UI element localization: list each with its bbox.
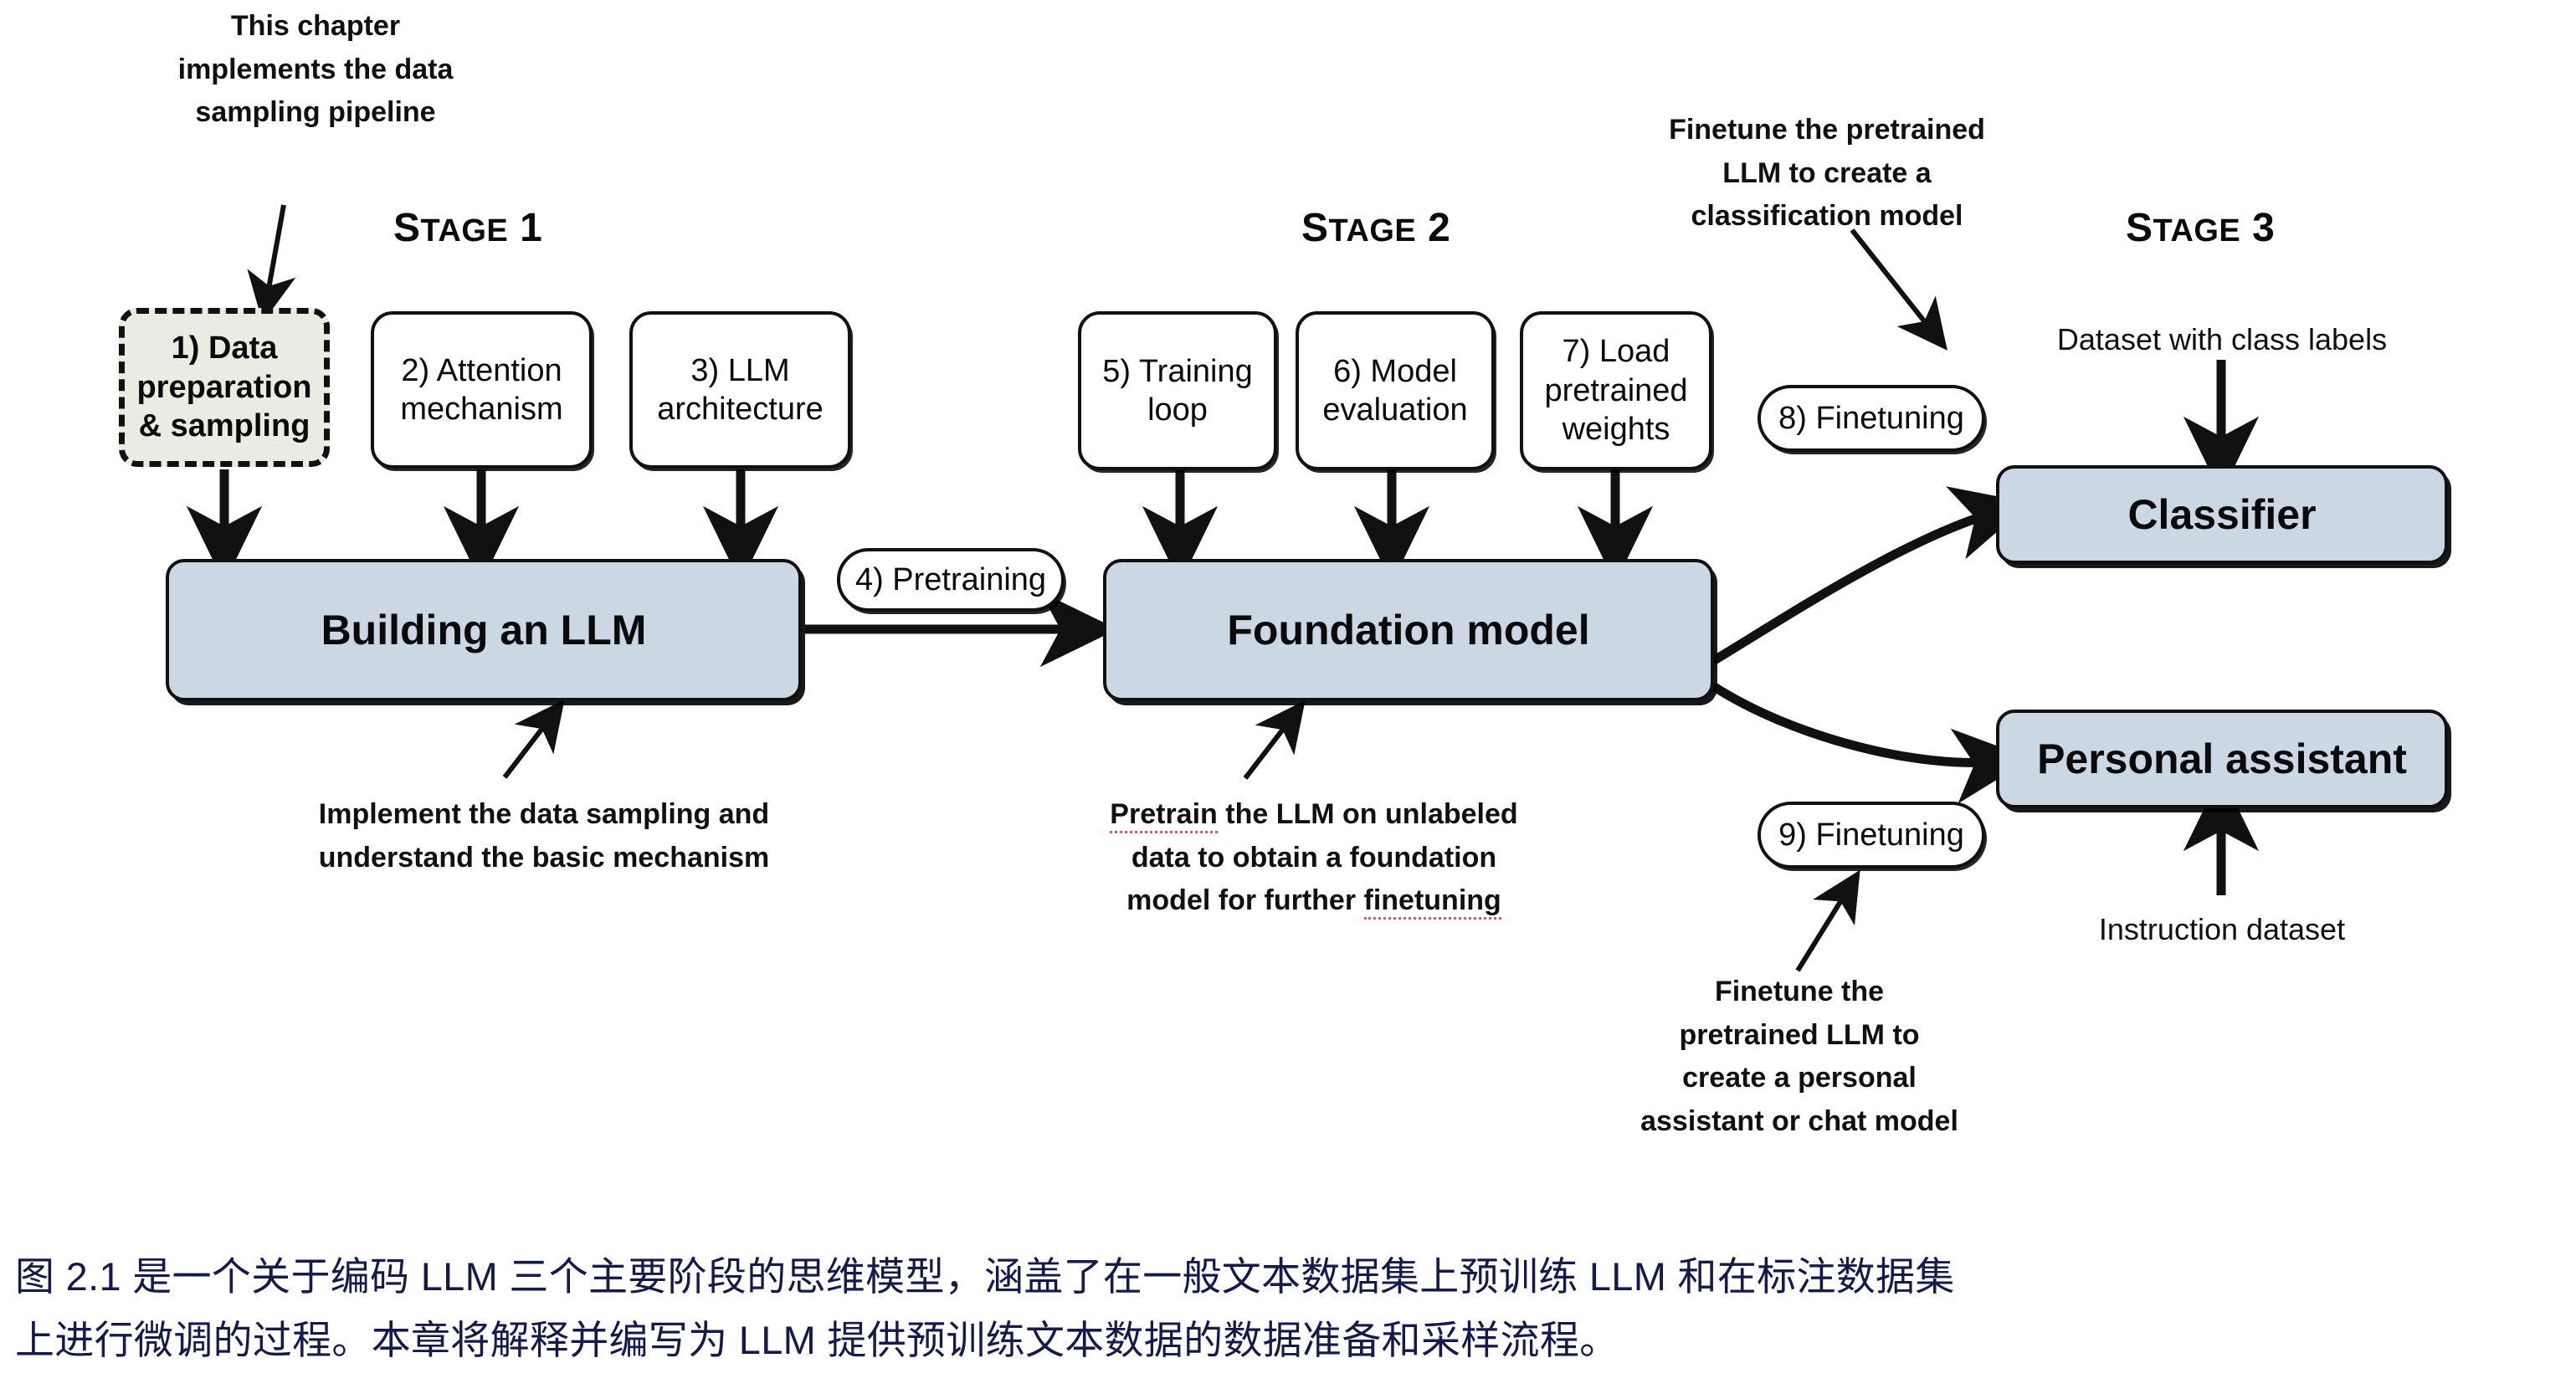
stage-3-rest: TAGE [2153, 213, 2241, 249]
figure-caption-line-2: 上进行微调的过程。本章将解释并编写为 LLM 提供预训练文本数据的数据准备和采样… [15, 1309, 2568, 1372]
node-foundation-model-label: Foundation model [1227, 605, 1589, 656]
node-building-an-llm[interactable]: Building an LLM [166, 559, 802, 701]
annotation-pretrain-line-3-head: model for further [1126, 884, 1363, 916]
annotation-pretrain-line-1-rest: the LLM on unlabeled [1218, 798, 1518, 830]
node-data-preparation-label: 1) Data preparation & sampling [130, 329, 319, 445]
annotation-finetune-classifier-line-3: classification model [1639, 195, 2015, 238]
annotation-pretrain-line-2: data to obtain a foundation [1088, 837, 1540, 880]
arrow-finetune-assistant-note [1798, 887, 1850, 971]
annotation-implement-line-1: Implement the data sampling and [276, 793, 812, 837]
annotation-finetune-assistant: Finetune the pretrained LLM to create a … [1590, 971, 2009, 1144]
node-load-pretrained-weights[interactable]: 7) Load pretrained weights [1520, 311, 1712, 470]
stage-1-lead: S [393, 206, 421, 250]
figure-canvas: STAGE 1 STAGE 2 STAGE 3 This chapter imp… [0, 0, 2576, 1399]
stage-1-label: STAGE 1 [393, 205, 542, 251]
annotation-finetune-assistant-line-4: assistant or chat model [1590, 1100, 2009, 1144]
node-load-pretrained-weights-label: 7) Load pretrained weights [1530, 332, 1702, 448]
figure-caption-line-1: 图 2.1 是一个关于编码 LLM 三个主要阶段的思维模型，涵盖了在一般文本数据… [15, 1245, 2568, 1309]
stage-2-label: STAGE 2 [1301, 205, 1450, 251]
node-personal-assistant[interactable]: Personal assistant [1996, 710, 2448, 808]
node-model-evaluation[interactable]: 6) Model evaluation [1296, 311, 1495, 470]
node-finetuning-9[interactable]: 9) Finetuning [1758, 802, 1985, 869]
stage-3-label: STAGE 3 [2126, 205, 2275, 251]
arrow-pretrain-note [1245, 716, 1293, 778]
annotation-finetune-assistant-line-3: create a personal [1590, 1057, 2009, 1100]
label-dataset-with-class-labels: Dataset with class labels [2025, 322, 2419, 357]
figure-caption: 图 2.1 是一个关于编码 LLM 三个主要阶段的思维模型，涵盖了在一般文本数据… [15, 1245, 2568, 1372]
stage-1-number [508, 206, 520, 250]
node-finetuning-9-label: 9) Finetuning [1778, 816, 1964, 854]
annotation-finetune-assistant-line-2: pretrained LLM to [1590, 1014, 2009, 1058]
node-attention-mechanism-label: 2) Attention mechanism [381, 351, 582, 429]
stage-3-number: 3 [2252, 206, 2275, 250]
node-llm-architecture-label: 3) LLM architecture [639, 351, 841, 429]
annotation-implement-line-2: understand the basic mechanism [276, 837, 812, 880]
stage-2-lead: S [1301, 206, 1329, 250]
node-finetuning-8[interactable]: 8) Finetuning [1758, 385, 1985, 452]
spellcheck-pretrain: Pretrain [1110, 798, 1218, 833]
node-personal-assistant-label: Personal assistant [2037, 734, 2407, 785]
arrow-finetune-classifier-note [1852, 230, 1935, 335]
annotation-finetune-classifier-line-1: Finetune the pretrained [1639, 109, 2015, 152]
annotation-pretrain-llm: Pretrain the LLM on unlabeled data to ob… [1088, 793, 1540, 923]
node-model-evaluation-label: 6) Model evaluation [1306, 352, 1485, 430]
stage-3-lead: S [2126, 206, 2153, 250]
node-finetuning-8-label: 8) Finetuning [1778, 399, 1964, 438]
spellcheck-finetuning: finetuning [1364, 884, 1501, 920]
node-training-loop-label: 5) Training loop [1088, 352, 1267, 430]
annotation-pretrain-line-1: Pretrain the LLM on unlabeled [1088, 793, 1540, 837]
stage-1-rest: TAGE [421, 213, 509, 249]
node-building-an-llm-label: Building an LLM [321, 605, 647, 656]
arrow-foundation-to-assistant [1713, 686, 2002, 763]
node-foundation-model[interactable]: Foundation model [1103, 559, 1714, 701]
node-classifier[interactable]: Classifier [1996, 465, 2448, 564]
arrow-implement-note [505, 715, 552, 777]
node-attention-mechanism[interactable]: 2) Attention mechanism [371, 311, 593, 469]
stage-2-rest: TAGE [1329, 213, 1417, 249]
node-data-preparation[interactable]: 1) Data preparation & sampling [119, 308, 330, 467]
node-training-loop[interactable]: 5) Training loop [1078, 311, 1277, 470]
annotation-pretrain-line-3: model for further finetuning [1088, 879, 1540, 923]
annotation-implement-data-sampling: Implement the data sampling and understa… [276, 793, 812, 879]
annotation-finetune-classifier-line-2: LLM to create a [1639, 152, 2015, 196]
label-instruction-dataset: Instruction dataset [2042, 912, 2402, 947]
annotation-this-chapter: This chapter implements the data samplin… [177, 5, 454, 135]
node-llm-architecture[interactable]: 3) LLM architecture [629, 311, 851, 469]
node-classifier-label: Classifier [2127, 489, 2316, 541]
arrow-chapter-to-data-prep [266, 205, 284, 303]
node-pretraining-label: 4) Pretraining [855, 561, 1046, 599]
annotation-finetune-assistant-line-1: Finetune the [1590, 971, 2009, 1014]
arrow-foundation-to-classifier [1713, 510, 2002, 661]
annotation-finetune-classifier: Finetune the pretrained LLM to create a … [1639, 109, 2015, 238]
stage-2-number: 2 [1428, 206, 1450, 250]
node-pretraining[interactable]: 4) Pretraining [837, 548, 1065, 612]
